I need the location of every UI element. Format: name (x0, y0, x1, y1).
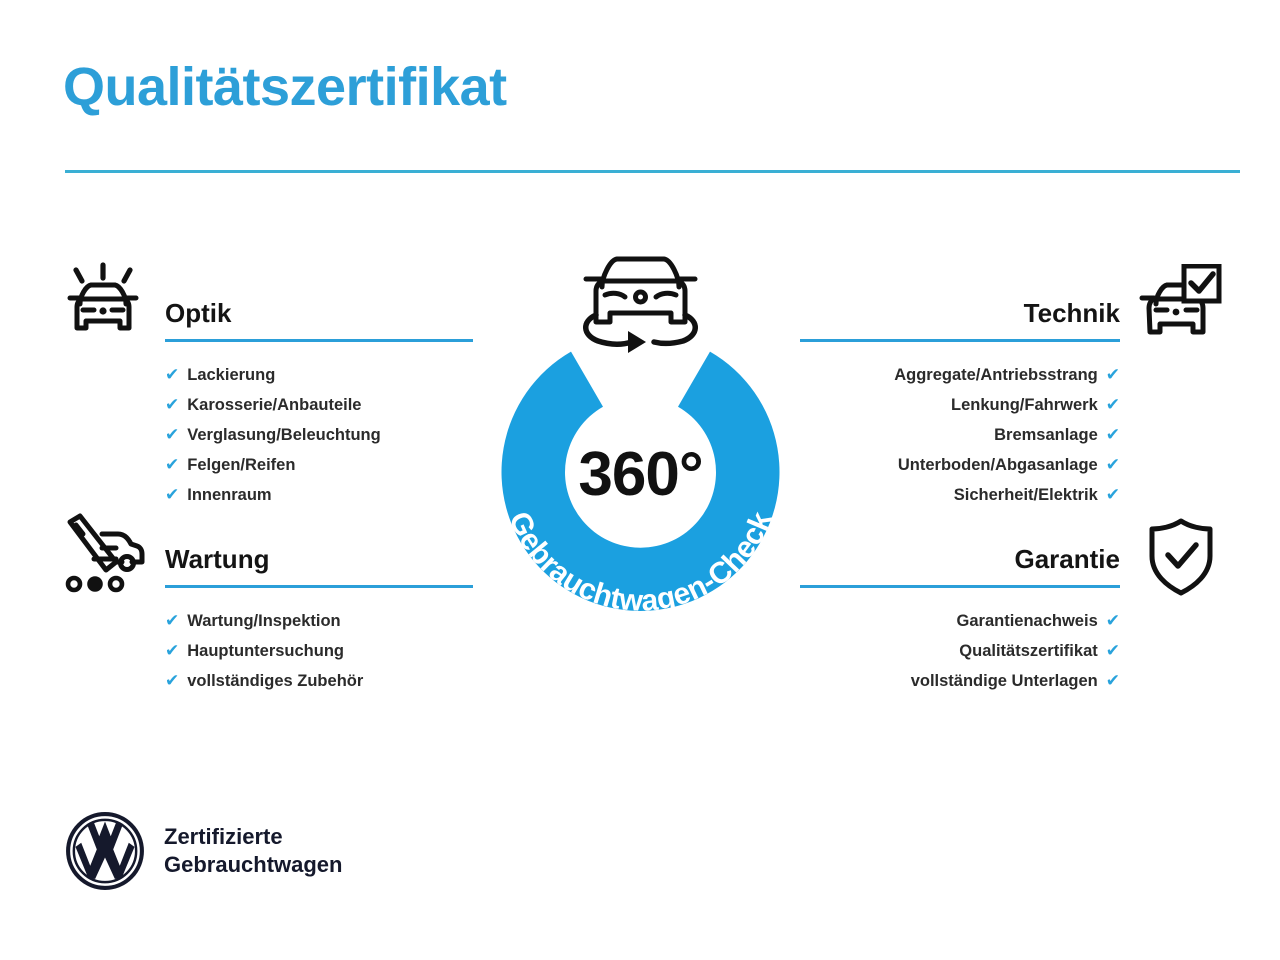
page-title: Qualitätszertifikat (63, 58, 507, 117)
volkswagen-logo (64, 810, 146, 892)
checklist-garantie: Garantienachweis ✔ Qualitätszertifikat ✔… (800, 606, 1120, 696)
check-icon: ✔ (165, 390, 179, 420)
section-title: Wartung (165, 542, 473, 576)
car-service-wrench-icon (58, 512, 148, 599)
list-item-label: Felgen/Reifen (187, 450, 295, 480)
section-header-technik: Technik (800, 296, 1120, 348)
check-icon: ✔ (1106, 390, 1120, 420)
section-optik: Optik ✔ Lackierung ✔ Karosserie/Anbautei… (165, 296, 473, 510)
list-item-label: Hauptuntersuchung (187, 636, 344, 666)
list-item: Sicherheit/Elektrik ✔ (800, 480, 1120, 510)
list-item-label: Qualitätszertifikat (959, 636, 1097, 666)
list-item-label: Verglasung/Beleuchtung (187, 420, 380, 450)
section-underline (800, 585, 1120, 588)
list-item-label: Garantienachweis (957, 606, 1098, 636)
list-item: ✔ Lackierung (165, 360, 473, 390)
list-item: ✔ Verglasung/Beleuchtung (165, 420, 473, 450)
check-icon: ✔ (165, 360, 179, 390)
shield-check-icon (1142, 516, 1220, 603)
list-item-label: Lenkung/Fahrwerk (951, 390, 1098, 420)
section-underline (165, 585, 473, 588)
car-rotate-360-icon (568, 243, 713, 358)
check-icon: ✔ (1106, 420, 1120, 450)
section-underline (800, 339, 1120, 342)
section-technik: Technik Aggregate/Antriebsstrang ✔ Lenku… (800, 296, 1120, 510)
list-item: ✔ Wartung/Inspektion (165, 606, 473, 636)
list-item: vollständige Unterlagen ✔ (800, 666, 1120, 696)
section-header-optik: Optik (165, 296, 473, 348)
checklist-technik: Aggregate/Antriebsstrang ✔ Lenkung/Fahrw… (800, 360, 1120, 510)
section-header-garantie: Garantie (800, 542, 1120, 594)
check-icon: ✔ (1106, 360, 1120, 390)
section-title: Technik (800, 296, 1120, 330)
section-title: Optik (165, 296, 473, 330)
check-icon: ✔ (1106, 636, 1120, 666)
quality-certificate-page: Qualitätszertifikat Optik (0, 0, 1280, 960)
list-item-label: Lackierung (187, 360, 275, 390)
list-item-label: vollständige Unterlagen (911, 666, 1098, 696)
list-item: Lenkung/Fahrwerk ✔ (800, 390, 1120, 420)
header-divider (65, 170, 1240, 173)
list-item: Garantienachweis ✔ (800, 606, 1120, 636)
list-item: Aggregate/Antriebsstrang ✔ (800, 360, 1120, 390)
list-item-label: Wartung/Inspektion (187, 606, 340, 636)
list-item: Qualitätszertifikat ✔ (800, 636, 1120, 666)
section-garantie: Garantie Garantienachweis ✔ Qualitätszer… (800, 542, 1120, 696)
check-icon: ✔ (165, 606, 179, 636)
footer-text: Zertifizierte Gebrauchtwagen (164, 823, 342, 879)
list-item: ✔ Felgen/Reifen (165, 450, 473, 480)
check-icon: ✔ (1106, 606, 1120, 636)
check-icon: ✔ (165, 450, 179, 480)
check-icon: ✔ (165, 480, 179, 510)
list-item: ✔ vollständiges Zubehör (165, 666, 473, 696)
gebrauchtwagen-check-badge: Gebrauchtwagen-Check 360° (463, 243, 818, 643)
list-item: Bremsanlage ✔ (800, 420, 1120, 450)
list-item-label: vollständiges Zubehör (187, 666, 363, 696)
check-icon: ✔ (1106, 480, 1120, 510)
list-item-label: Aggregate/Antriebsstrang (894, 360, 1098, 390)
footer-brand: Zertifizierte Gebrauchtwagen (64, 810, 342, 892)
list-item: ✔ Innenraum (165, 480, 473, 510)
check-icon: ✔ (165, 666, 179, 696)
car-front-checkbox-icon (1138, 264, 1224, 351)
list-item-label: Bremsanlage (994, 420, 1098, 450)
car-front-shine-icon (62, 262, 144, 349)
list-item: ✔ Karosserie/Anbauteile (165, 390, 473, 420)
section-title: Garantie (800, 542, 1120, 576)
list-item-label: Karosserie/Anbauteile (187, 390, 361, 420)
badge-center-label: 360° (463, 439, 818, 510)
list-item: Unterboden/Abgasanlage ✔ (800, 450, 1120, 480)
check-icon: ✔ (165, 636, 179, 666)
checklist-wartung: ✔ Wartung/Inspektion ✔ Hauptuntersuchung… (165, 606, 473, 696)
list-item-label: Unterboden/Abgasanlage (898, 450, 1098, 480)
checklist-optik: ✔ Lackierung ✔ Karosserie/Anbauteile ✔ V… (165, 360, 473, 510)
check-icon: ✔ (1106, 666, 1120, 696)
section-underline (165, 339, 473, 342)
check-icon: ✔ (165, 420, 179, 450)
list-item: ✔ Hauptuntersuchung (165, 636, 473, 666)
check-icon: ✔ (1106, 450, 1120, 480)
list-item-label: Sicherheit/Elektrik (954, 480, 1098, 510)
list-item-label: Innenraum (187, 480, 271, 510)
section-wartung: Wartung ✔ Wartung/Inspektion ✔ Hauptunte… (165, 542, 473, 696)
section-header-wartung: Wartung (165, 542, 473, 594)
